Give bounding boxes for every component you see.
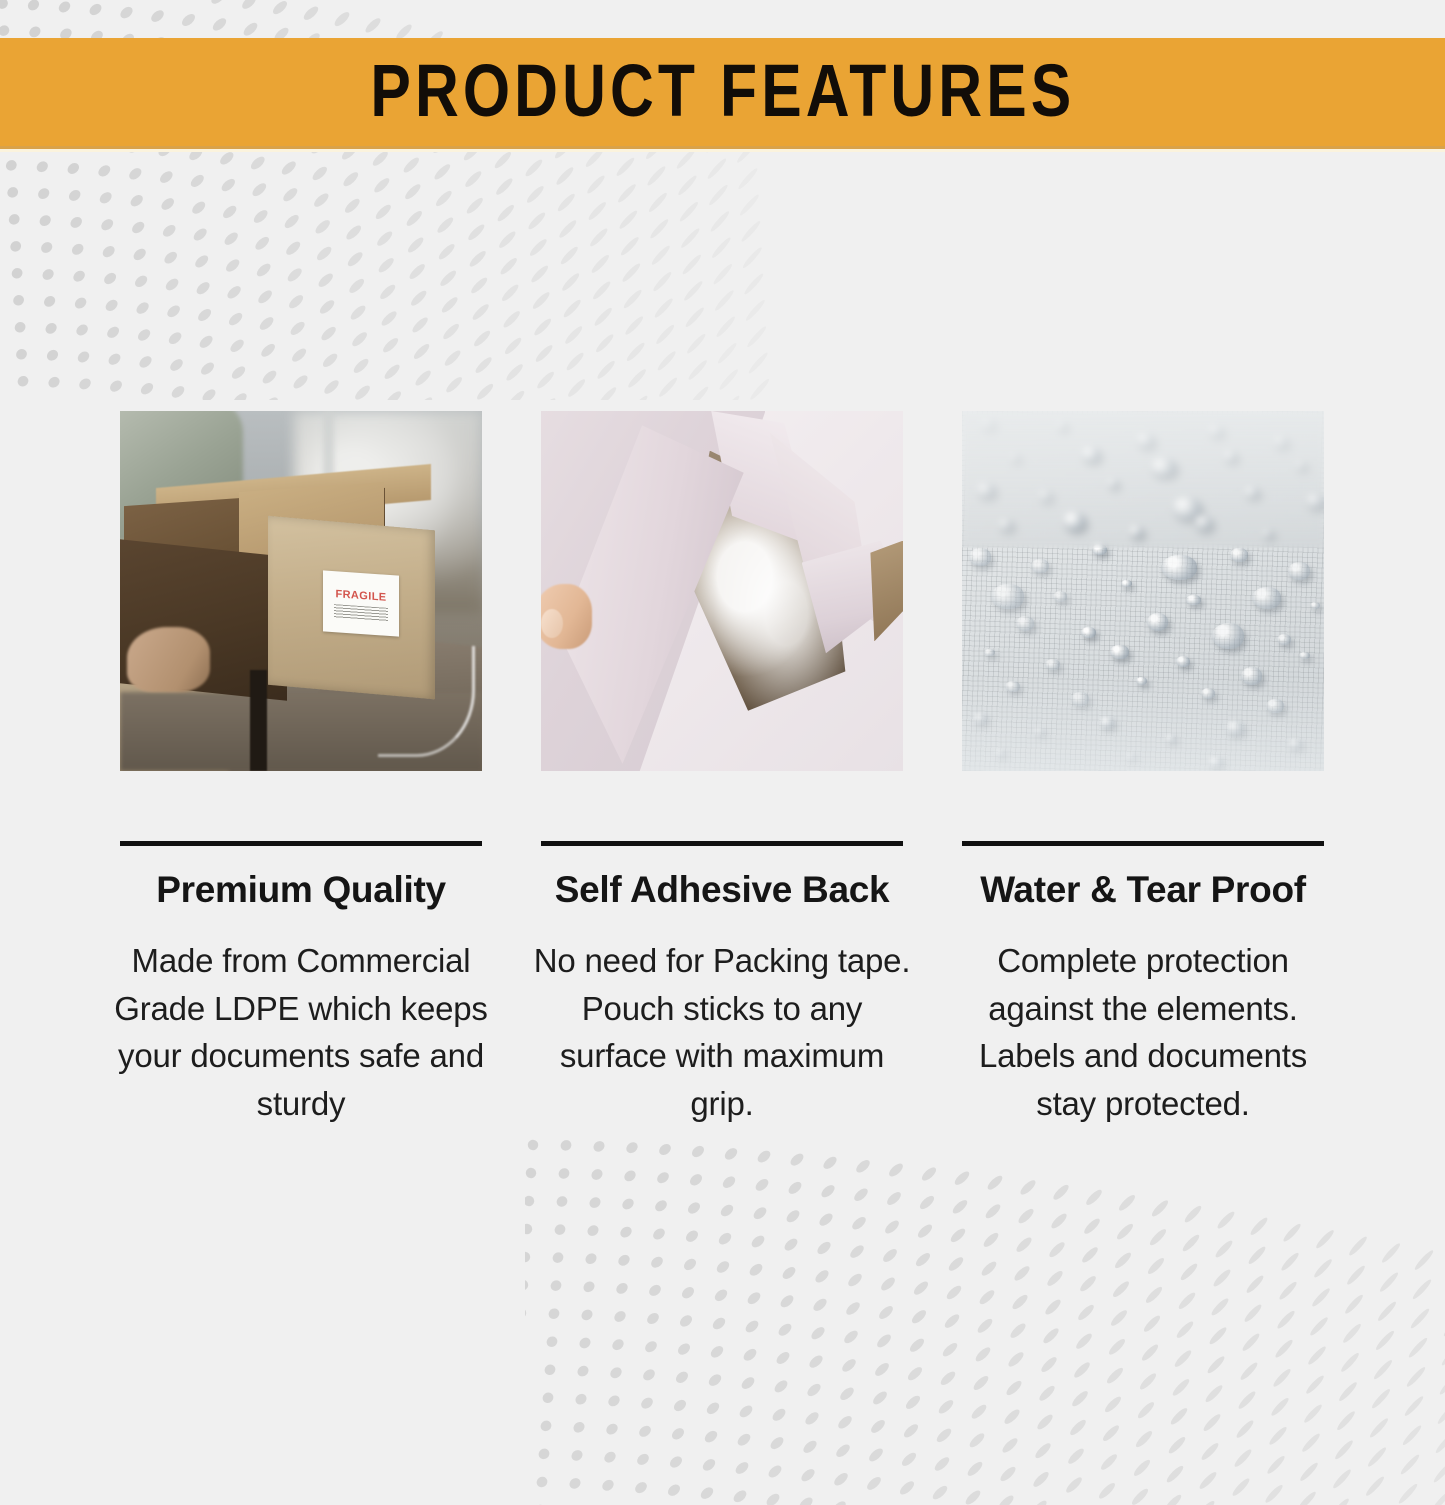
feature-title: Premium Quality [156, 870, 446, 911]
peeling-adhesive-liner-photo [541, 411, 903, 771]
feature-title: Self Adhesive Back [555, 870, 890, 911]
water-droplet [1031, 559, 1049, 573]
page-title: PRODUCT FEATURES [370, 54, 1075, 128]
water-droplet [1277, 634, 1291, 645]
water-droplet [1045, 659, 1059, 670]
water-droplet [1053, 591, 1067, 602]
warehouse-worker-carrying-boxes-photo: FRAGILE [120, 411, 482, 771]
feature-divider [541, 841, 903, 846]
feature-title: Water & Tear Proof [980, 870, 1306, 911]
water-droplet [1252, 587, 1281, 609]
water-droplet [1161, 555, 1197, 580]
water-droplet [1147, 613, 1169, 631]
water-droplet [1288, 562, 1310, 580]
feature-description: Complete protection against the elements… [953, 937, 1333, 1128]
water-droplet [1110, 645, 1128, 659]
feature-card-water-tear-proof: Water & Tear Proof Complete protection a… [962, 411, 1324, 1128]
water-droplet [1310, 602, 1321, 609]
water-droplet [984, 649, 995, 656]
water-droplet [1299, 652, 1310, 659]
feature-card-self-adhesive-back: Self Adhesive Back No need for Packing t… [541, 411, 903, 1128]
water-droplet [1081, 627, 1095, 638]
feature-divider [120, 841, 482, 846]
water-droplet [1016, 616, 1034, 630]
feature-description: No need for Packing tape. Pouch sticks t… [532, 937, 912, 1128]
water-droplet [1230, 548, 1248, 562]
water-droplet [969, 548, 991, 566]
feature-card-premium-quality: FRAGILE Premium Quality Made from Commer… [120, 411, 482, 1128]
water-droplet [991, 584, 1024, 609]
feature-description: Made from Commercial Grade LDPE which ke… [111, 937, 491, 1128]
feature-divider [962, 841, 1324, 846]
water-droplet [1176, 656, 1190, 667]
fragile-label: FRAGILE [323, 570, 399, 637]
water-droplet [1212, 623, 1245, 648]
fragile-label-text: FRAGILE [335, 589, 386, 604]
water-droplets-on-fabric-photo [962, 411, 1324, 771]
water-droplet [1186, 595, 1200, 606]
header-banner: PRODUCT FEATURES [0, 38, 1445, 146]
features-row: FRAGILE Premium Quality Made from Commer… [120, 411, 1325, 1128]
